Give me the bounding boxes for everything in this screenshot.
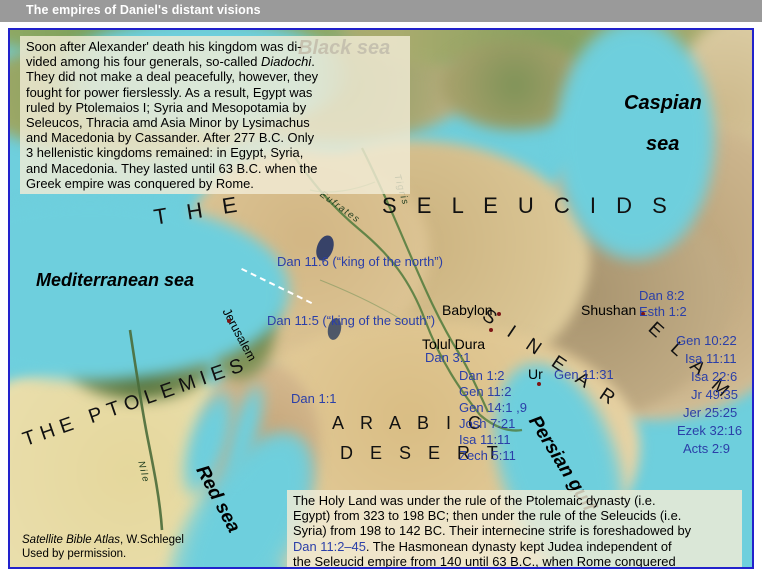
credit-line-2: Used by permission. (22, 547, 202, 561)
diadochi-line-7: and Macedonia by Cassander. After 277 B.… (26, 130, 405, 145)
ref-dan-11-5[interactable]: Dan 11:5 (“king of the south”) (267, 313, 435, 328)
ref-dan-11-6[interactable]: Dan 11:6 (“king of the north”) (277, 254, 443, 269)
holyland-line-5: the Seleucid empire from 140 until 63 B.… (293, 554, 737, 567)
ref-gen-11-2[interactable]: Gen 11:2 (459, 384, 512, 399)
ref-isa-11-11-b[interactable]: Isa 11:11 (685, 351, 737, 366)
window-titlebar: The empires of Daniel's distant visions (0, 0, 762, 22)
ref-acts-2-9[interactable]: Acts 2:9 (683, 441, 730, 456)
ref-isa-11-11-a[interactable]: Isa 11:11 (459, 432, 511, 447)
ref-isa-22-6[interactable]: Isa 22:6 (691, 369, 737, 384)
holyland-line-4: Dan 11:2–45. The Hasmonean dynasty kept … (293, 539, 737, 554)
diadochi-line-6: Seleucos, Thracia amd Asia Minor by Lysi… (26, 115, 405, 130)
ref-ezek-32-16[interactable]: Ezek 32:16 (677, 423, 742, 438)
ref-zech-5-11[interactable]: Zech 5:11 (459, 448, 516, 463)
diadochi-note-panel: Soon after Alexander' death his kingdom … (20, 36, 410, 194)
map-credit: Satellite Bible Atlas, W.Schlegel Used b… (22, 533, 202, 561)
jerusalem-dot (227, 319, 231, 323)
credit-line-1: Satellite Bible Atlas, W.Schlegel (22, 533, 202, 547)
ref-esth-1-2[interactable]: Esth 1:2 (639, 304, 687, 319)
tolul-dura-dot (489, 328, 493, 332)
ur-label: Ur (528, 366, 543, 382)
ref-dan-1-2[interactable]: Dan 1:2 (459, 368, 505, 383)
caspian-sea-label-1: Caspian (624, 92, 702, 115)
diadochi-line-1: Soon after Alexander' death his kingdom … (26, 39, 405, 54)
ref-dan-11-2-45[interactable]: Dan 11:2–45 (293, 539, 366, 554)
diadochi-line-4: fought for power fierslessly. As a resul… (26, 85, 405, 100)
diadochi-line-9: and Macedonia. They lasted until 63 B.C.… (26, 161, 405, 176)
ref-jr-49-35[interactable]: Jr 49:35 (691, 387, 738, 402)
holyland-line-2: Egypt) from 323 to 198 BC; then under th… (293, 508, 737, 523)
diadochi-line-2: vided among his four generals, so-called… (26, 54, 405, 69)
page-title: The empires of Daniel's distant visions (26, 3, 261, 17)
shushan-label: Shushan (581, 302, 636, 318)
map-window: The empires of Daniel's distant visions (0, 0, 762, 580)
diadochi-line-10: Greek empire was conquered by Rome. (26, 176, 405, 191)
diadochi-line-5: ruled by Ptolemaios I; Syria and Mesopot… (26, 100, 405, 115)
the-seleucids-label-2: S E L E U C I D S (382, 193, 674, 219)
holyland-line-3: Syria) from 198 to 142 BC. Their interne… (293, 523, 737, 538)
holyland-line-1: The Holy Land was under the rule of the … (293, 493, 737, 508)
credit-author: , W.Schlegel (120, 534, 184, 546)
satellite-map: Black sea Caspian sea Mediterranean sea … (10, 30, 752, 567)
ref-dan-3-1[interactable]: Dan 3:1 (425, 350, 471, 365)
diadochi-line-3: They did not make a deal peacefully, how… (26, 69, 405, 84)
ref-josh-7-21[interactable]: Josh 7:21 (459, 416, 515, 431)
diadochi-line-8: 3 hellenistic kingdoms remained: in Egyp… (26, 145, 405, 160)
ref-gen-14-1-9[interactable]: Gen 14:1 ,9 (459, 400, 527, 415)
mediterranean-sea-label: Mediterranean sea (36, 270, 194, 291)
ref-jer-25-25[interactable]: Jer 25:25 (683, 405, 737, 420)
babylon-dot (497, 312, 501, 316)
ref-gen-11-31[interactable]: Gen 11:31 (554, 367, 614, 382)
ref-gen-10-22[interactable]: Gen 10:22 (676, 333, 737, 348)
babylon-label: Babylon (442, 302, 493, 318)
caspian-sea-label-2: sea (646, 133, 679, 156)
holy-land-note-panel: The Holy Land was under the rule of the … (287, 490, 742, 567)
map-frame: Black sea Caspian sea Mediterranean sea … (8, 28, 754, 569)
ref-dan-8-2[interactable]: Dan 8:2 (639, 288, 685, 303)
ur-dot (537, 382, 541, 386)
credit-atlas-name: Satellite Bible Atlas (22, 534, 120, 546)
ref-dan-1-1[interactable]: Dan 1:1 (291, 391, 337, 406)
